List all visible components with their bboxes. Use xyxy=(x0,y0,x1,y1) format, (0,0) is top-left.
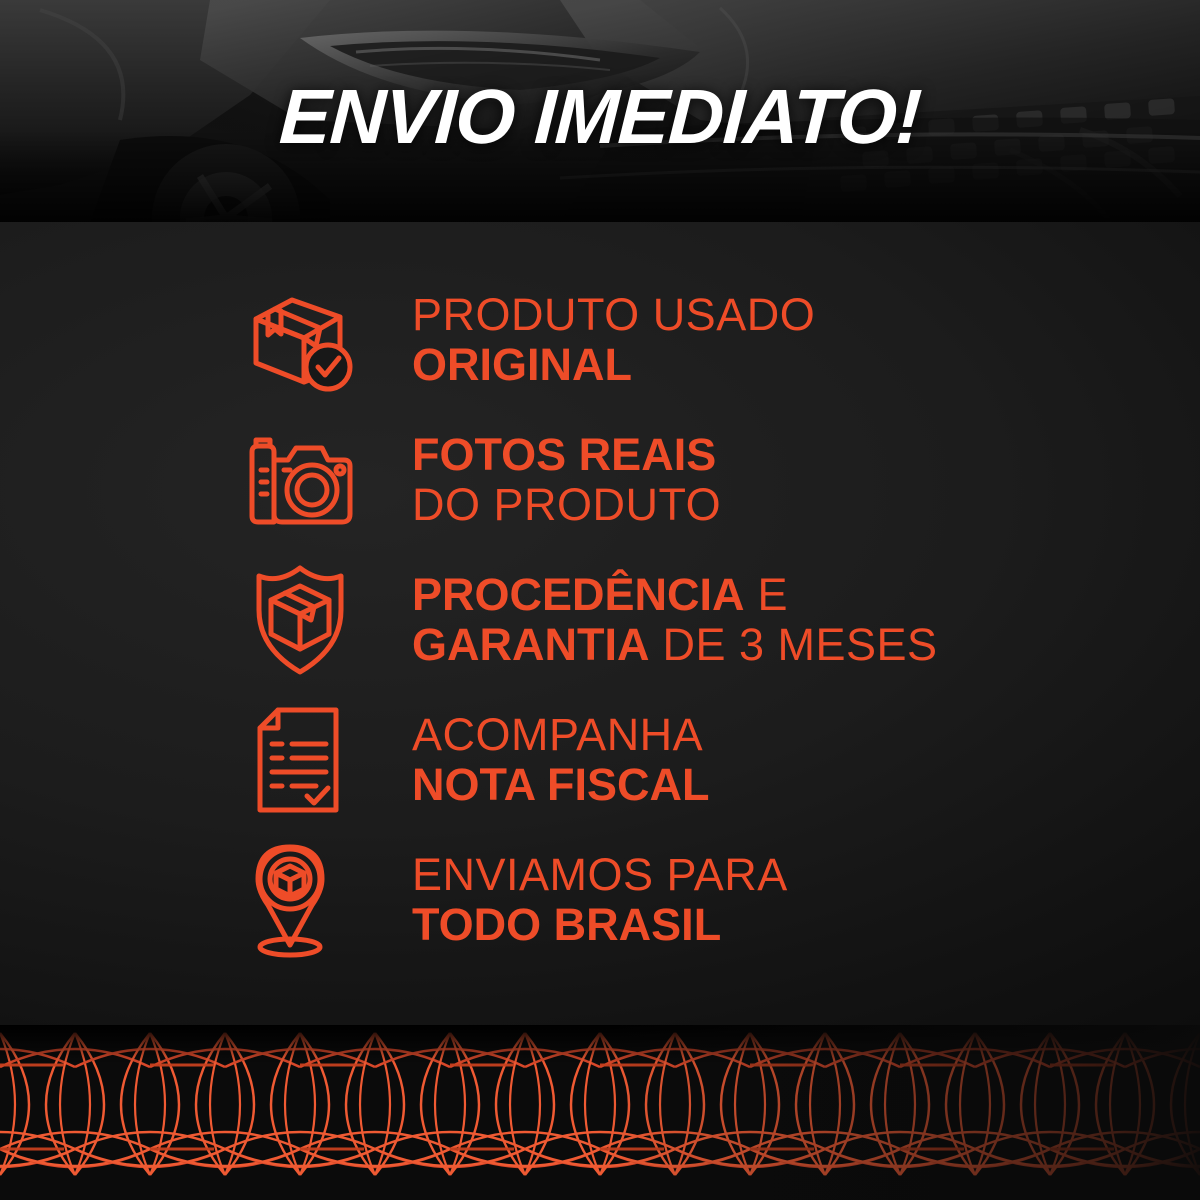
feature-line-2-thin: DE 3 MESES xyxy=(649,619,937,670)
camera-icon xyxy=(240,430,360,530)
feature-row: FOTOS REAIS DO PRODUTO xyxy=(240,410,1140,550)
feature-text: PRODUTO USADO ORIGINAL xyxy=(412,290,815,390)
feature-text: ENVIAMOS PARA TODO BRASIL xyxy=(412,850,788,950)
feature-line-1: ACOMPANHA xyxy=(412,710,709,760)
shield-box-icon xyxy=(240,562,360,678)
feature-line-1: PRODUTO USADO xyxy=(412,290,815,340)
feature-text: ACOMPANHA NOTA FISCAL xyxy=(412,710,709,810)
feature-line-1-bold: PROCEDÊNCIA xyxy=(412,569,745,620)
feature-line-2: ORIGINAL xyxy=(412,340,815,390)
header-title-text: ENVIO IMEDIATO! xyxy=(277,67,923,156)
feature-text: PROCEDÊNCIA E GARANTIA DE 3 MESES xyxy=(412,570,938,670)
feature-line-2: DO PRODUTO xyxy=(412,480,721,530)
header-title: ENVIO IMEDIATO! xyxy=(0,0,1200,222)
feature-text: FOTOS REAIS DO PRODUTO xyxy=(412,430,721,530)
feature-line-1: ENVIAMOS PARA xyxy=(412,850,788,900)
feature-line-1: FOTOS REAIS xyxy=(412,430,721,480)
invoice-check-icon xyxy=(240,704,360,816)
decorative-lattice-pattern xyxy=(0,1025,1200,1200)
feature-line-2: TODO BRASIL xyxy=(412,900,788,950)
feature-row: ENVIAMOS PARA TODO BRASIL xyxy=(240,830,1140,970)
feature-line-1-thin: E xyxy=(745,569,789,620)
promo-poster: ENVIO IMEDIATO! xyxy=(0,0,1200,1200)
feature-line-2: NOTA FISCAL xyxy=(412,760,709,810)
box-check-icon xyxy=(240,287,360,393)
feature-row: PROCEDÊNCIA E GARANTIA DE 3 MESES xyxy=(240,550,1140,690)
feature-line-1: PROCEDÊNCIA E xyxy=(412,570,938,620)
map-pin-box-icon xyxy=(240,837,360,963)
feature-line-2-bold: GARANTIA xyxy=(412,619,649,670)
feature-row: ACOMPANHA NOTA FISCAL xyxy=(240,690,1140,830)
features-list: PRODUTO USADO ORIGINAL xyxy=(240,270,1140,970)
header-banner: ENVIO IMEDIATO! xyxy=(0,0,1200,222)
features-section: PRODUTO USADO ORIGINAL xyxy=(0,222,1200,1060)
feature-line-2: GARANTIA DE 3 MESES xyxy=(412,620,938,670)
feature-row: PRODUTO USADO ORIGINAL xyxy=(240,270,1140,410)
